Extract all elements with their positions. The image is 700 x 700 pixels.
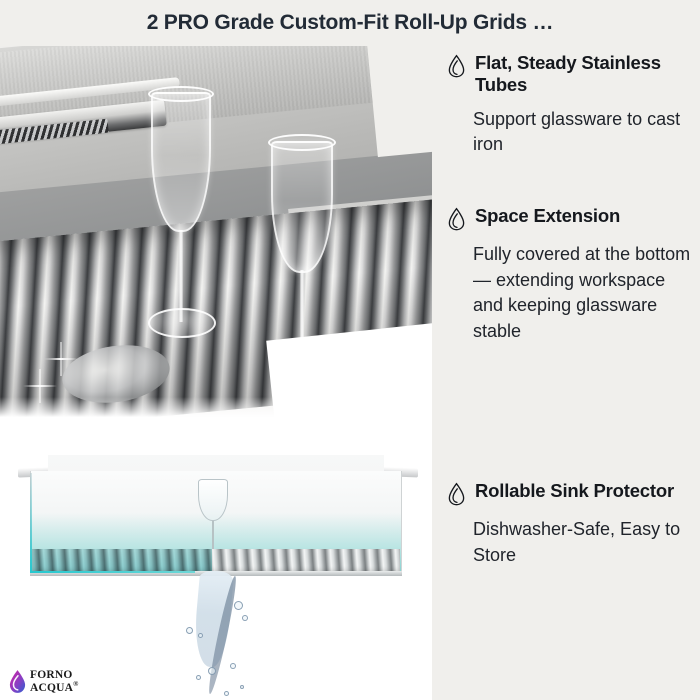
forno-acqua-drop-logo-icon: [8, 669, 27, 694]
product-infographic-page: 2 PRO Grade Custom-Fit Roll-Up Grids …: [0, 0, 700, 700]
water-drop-icon: [447, 482, 466, 506]
brand-trademark: ®: [73, 680, 78, 688]
feature-item-space-extension: Space Extension Fully covered at the bot…: [447, 205, 700, 344]
photo-bottom-fade: [0, 397, 432, 425]
feature-item-rollable-sink-protector: Rollable Sink Protector Dishwasher-Safe,…: [447, 480, 700, 568]
sink-cross-section-illustration: [0, 425, 432, 700]
feature-title: Rollable Sink Protector: [475, 480, 674, 502]
feature-heading-row: Rollable Sink Protector: [447, 480, 700, 506]
page-title-bar: 2 PRO Grade Custom-Fit Roll-Up Grids …: [0, 0, 700, 46]
champagne-glass-front: [148, 86, 218, 366]
sink-bottom-edge-highlight: [30, 571, 195, 573]
brand-logo: FORNO ACQUA®: [8, 669, 79, 694]
water-splash: [178, 571, 268, 700]
grid-water-tint: [32, 549, 212, 573]
brand-logo-wordmark: FORNO ACQUA®: [30, 670, 79, 694]
brand-logo-line1: FORNO: [30, 669, 73, 681]
feature-item-flat-steady-stainless-tubes: Flat, Steady Stainless Tubes Support gla…: [447, 52, 700, 158]
page-title: 2 PRO Grade Custom-Fit Roll-Up Grids …: [147, 11, 554, 35]
feature-list: Flat, Steady Stainless Tubes Support gla…: [447, 46, 700, 700]
water-drop-icon: [447, 207, 466, 231]
water-drop-icon: [447, 54, 466, 78]
media-column: FORNO ACQUA®: [0, 46, 432, 700]
stainless-sink-with-glassware-photo: [0, 46, 432, 425]
feature-body: Support glassware to cast iron: [473, 107, 700, 158]
feature-title: Space Extension: [475, 205, 620, 227]
brand-logo-line2: ACQUA®: [30, 681, 79, 694]
photo-top-right-mask: [366, 46, 432, 157]
feature-heading-row: Space Extension: [447, 205, 700, 231]
feature-body: Dishwasher-Safe, Easy to Store: [473, 517, 700, 568]
feature-body: Fully covered at the bottom — extending …: [473, 242, 700, 344]
feature-heading-row: Flat, Steady Stainless Tubes: [447, 52, 700, 96]
feature-title: Flat, Steady Stainless Tubes: [475, 52, 700, 96]
